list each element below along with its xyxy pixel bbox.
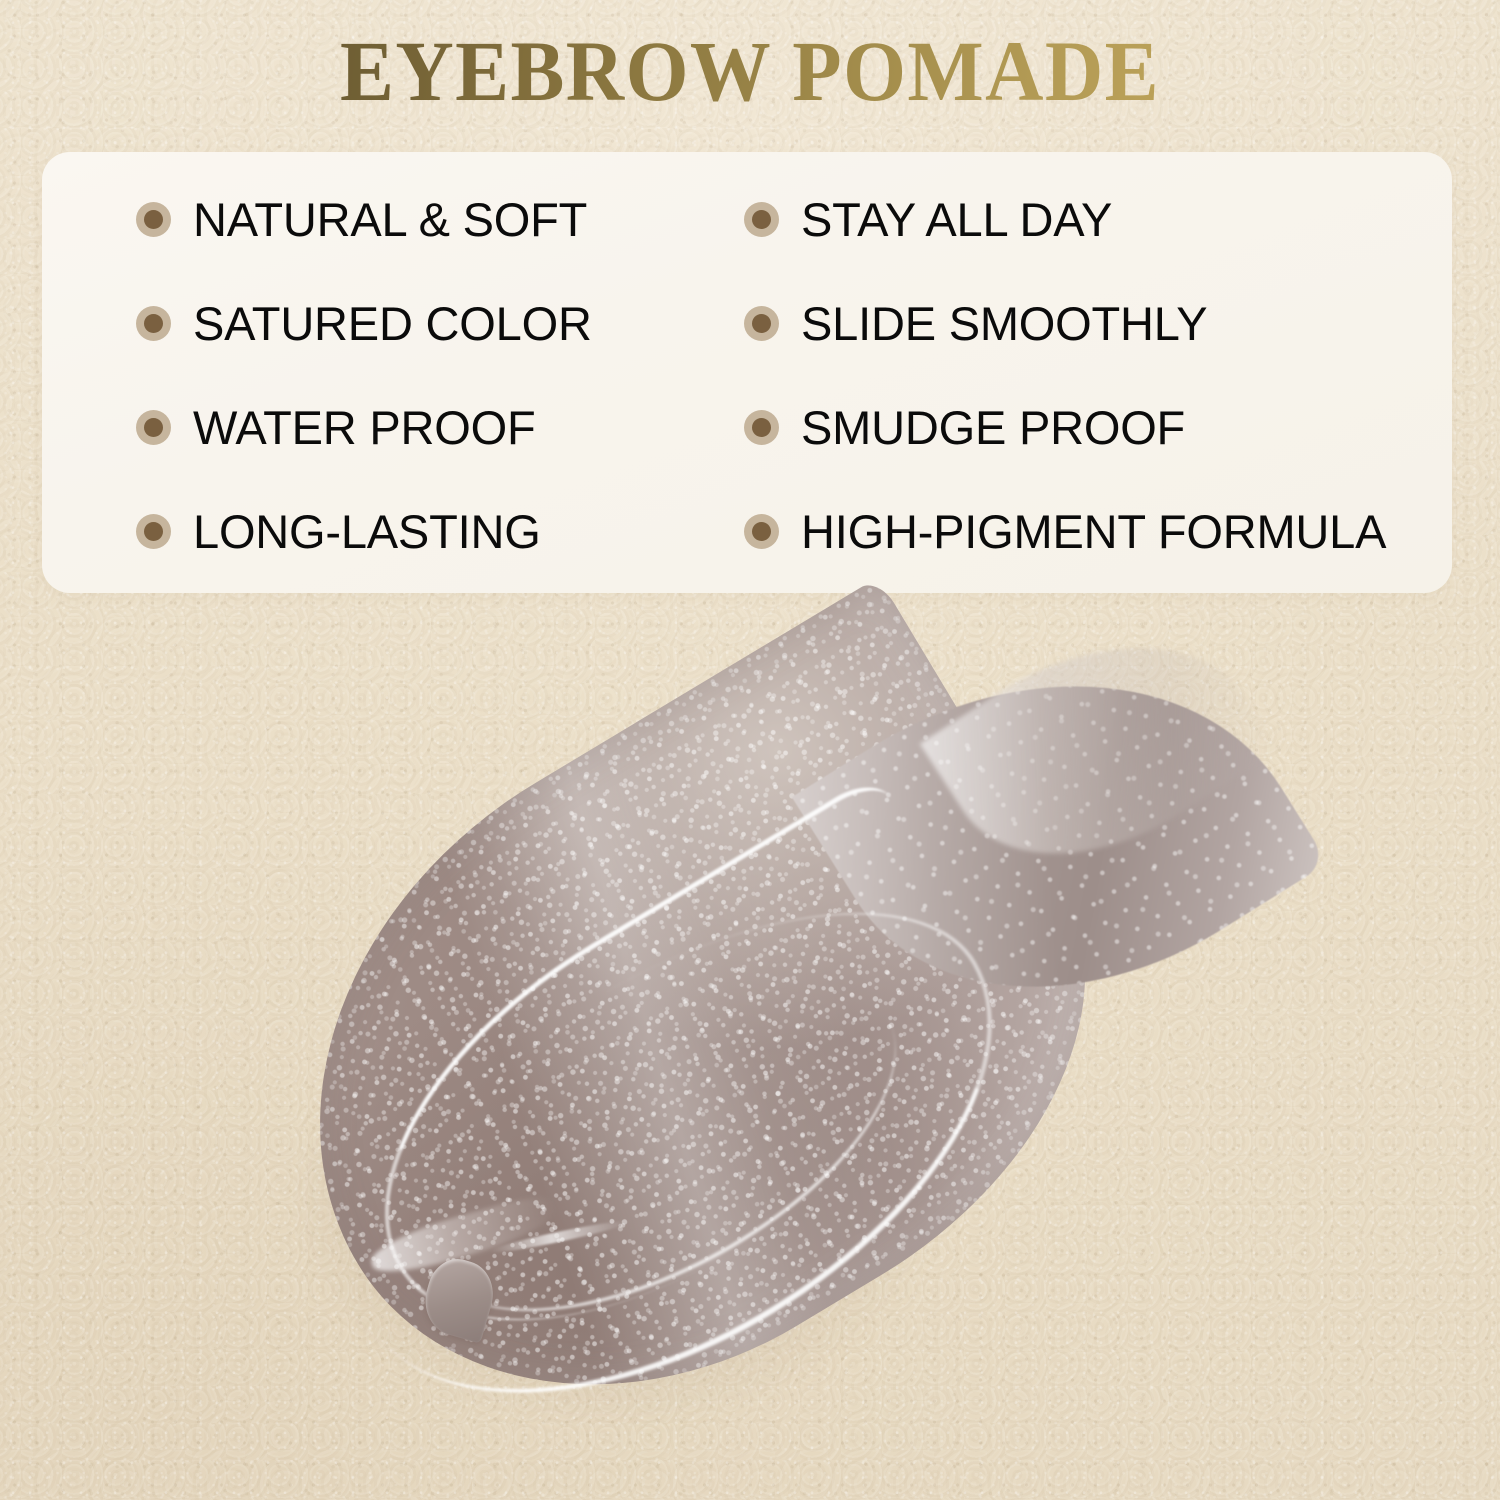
bullet-dot-icon xyxy=(744,514,779,549)
feature-item-water-proof: WATER PROOF xyxy=(42,376,694,480)
pomade-cream-smear xyxy=(250,620,1300,1480)
feature-label: SMUDGE PROOF xyxy=(801,404,1185,451)
feature-label: SLIDE SMOOTHLY xyxy=(801,300,1207,347)
bullet-dot-icon xyxy=(136,202,171,237)
feature-item-smudge-proof: SMUDGE PROOF xyxy=(694,376,1452,480)
feature-item-natural-soft: NATURAL & SOFT xyxy=(42,168,694,272)
bullet-dot-icon xyxy=(136,410,171,445)
bullet-dot-icon xyxy=(136,514,171,549)
feature-item-satured-color: SATURED COLOR xyxy=(42,272,694,376)
bullet-dot-icon xyxy=(744,202,779,237)
feature-grid: NATURAL & SOFT STAY ALL DAY SATURED COLO… xyxy=(42,152,1452,593)
feature-item-slide-smoothly: SLIDE SMOOTHLY xyxy=(694,272,1452,376)
feature-item-stay-all-day: STAY ALL DAY xyxy=(694,168,1452,272)
feature-item-high-pigment-formula: HIGH-PIGMENT FORMULA xyxy=(694,479,1452,583)
feature-item-long-lasting: LONG-LASTING xyxy=(42,479,694,583)
feature-label: STAY ALL DAY xyxy=(801,196,1112,243)
feature-label: HIGH-PIGMENT FORMULA xyxy=(801,508,1386,555)
feature-label: LONG-LASTING xyxy=(193,508,541,555)
feature-label: SATURED COLOR xyxy=(193,300,592,347)
feature-list-card: NATURAL & SOFT STAY ALL DAY SATURED COLO… xyxy=(42,152,1452,593)
product-marketing-image: EYEBROW POMADE NATURAL & SOFT STAY ALL D… xyxy=(0,0,1500,1500)
bullet-dot-icon xyxy=(136,306,171,341)
bullet-dot-icon xyxy=(744,306,779,341)
bullet-dot-icon xyxy=(744,410,779,445)
feature-label: NATURAL & SOFT xyxy=(193,196,587,243)
page-title: EYEBROW POMADE xyxy=(45,21,1455,121)
feature-label: WATER PROOF xyxy=(193,404,535,451)
product-swatch-area xyxy=(0,600,1500,1500)
